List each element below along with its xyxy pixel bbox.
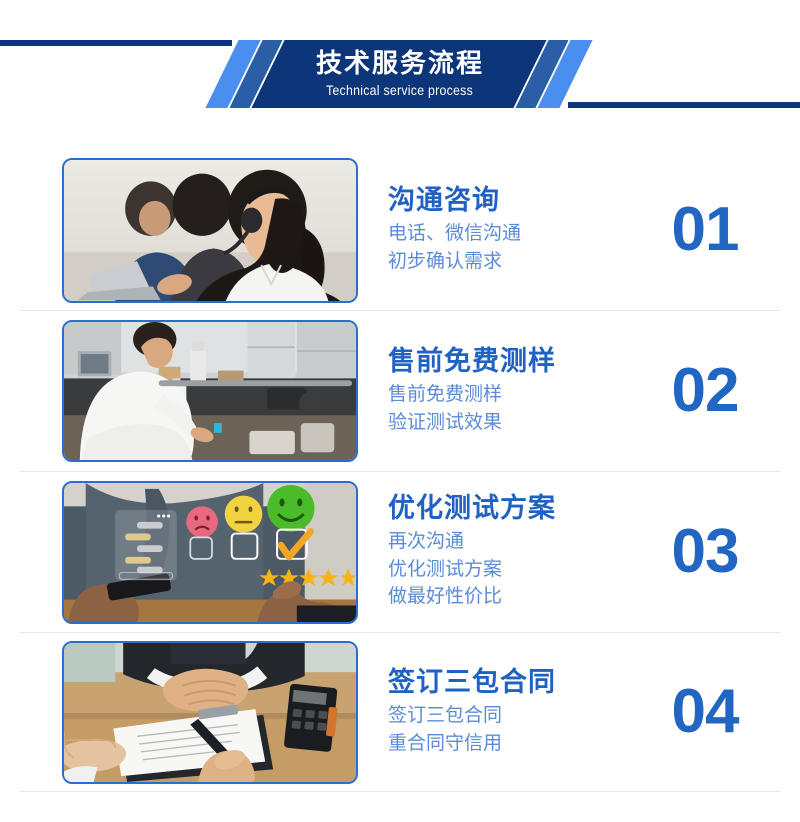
call-center-agents-photo (64, 160, 356, 301)
step-description-line: 再次沟通 (388, 528, 650, 556)
step-number-1: 01 (650, 199, 760, 261)
step-thumbnail-2 (62, 320, 358, 462)
process-step-4: 签订三包合同 签订三包合同 重合同守信用 04 (0, 633, 800, 791)
header-rule-right (568, 102, 800, 108)
step-description-line: 初步确认需求 (388, 248, 650, 276)
step-title-3: 优化测试方案 (388, 493, 650, 524)
header-title-plate (251, 40, 546, 108)
step-number-2: 02 (650, 360, 760, 422)
page-header-banner: 技术服务流程 Technical service process (0, 0, 800, 150)
step-description-line: 电话、微信沟通 (388, 220, 650, 248)
step-description-4: 签订三包合同 重合同守信用 (388, 702, 650, 757)
process-step-list: 沟通咨询 电话、微信沟通 初步确认需求 01 (0, 150, 800, 792)
step-text-2: 售前免费测样 售前免费测样 验证测试效果 (358, 346, 650, 436)
step-number-4: 04 (650, 681, 760, 743)
process-step-3: 优化测试方案 再次沟通 优化测试方案 做最好性价比 03 (0, 472, 800, 632)
step-text-3: 优化测试方案 再次沟通 优化测试方案 做最好性价比 (358, 493, 650, 611)
process-step-1: 沟通咨询 电话、微信沟通 初步确认需求 01 (0, 150, 800, 310)
step-thumbnail-1 (62, 158, 358, 303)
contract-signing-photo (64, 643, 356, 782)
step-title-2: 售前免费测样 (388, 346, 650, 377)
step-thumbnail-3 (62, 481, 358, 624)
step-description-line: 签订三包合同 (388, 702, 650, 730)
step-number-3: 03 (650, 521, 760, 583)
step-description-2: 售前免费测样 验证测试效果 (388, 381, 650, 436)
header-rule-left (0, 40, 232, 46)
step-title-4: 签订三包合同 (388, 667, 650, 698)
step-title-1: 沟通咨询 (388, 185, 650, 216)
step-description-3: 再次沟通 优化测试方案 做最好性价比 (388, 528, 650, 611)
step-text-1: 沟通咨询 电话、微信沟通 初步确认需求 (358, 185, 650, 275)
step-description-1: 电话、微信沟通 初步确认需求 (388, 220, 650, 275)
step-thumbnail-4 (62, 641, 358, 784)
step-text-4: 签订三包合同 签订三包合同 重合同守信用 (358, 667, 650, 757)
step-divider (20, 791, 780, 792)
satisfaction-rating-smileys-photo (64, 483, 356, 622)
step-description-line: 优化测试方案 (388, 556, 650, 584)
step-description-line: 重合同守信用 (388, 730, 650, 758)
process-step-2: 售前免费测样 售前免费测样 验证测试效果 02 (0, 311, 800, 471)
step-description-line: 验证测试效果 (388, 409, 650, 437)
step-description-line: 做最好性价比 (388, 583, 650, 611)
step-description-line: 售前免费测样 (388, 381, 650, 409)
lab-technician-testing-photo (64, 322, 356, 460)
